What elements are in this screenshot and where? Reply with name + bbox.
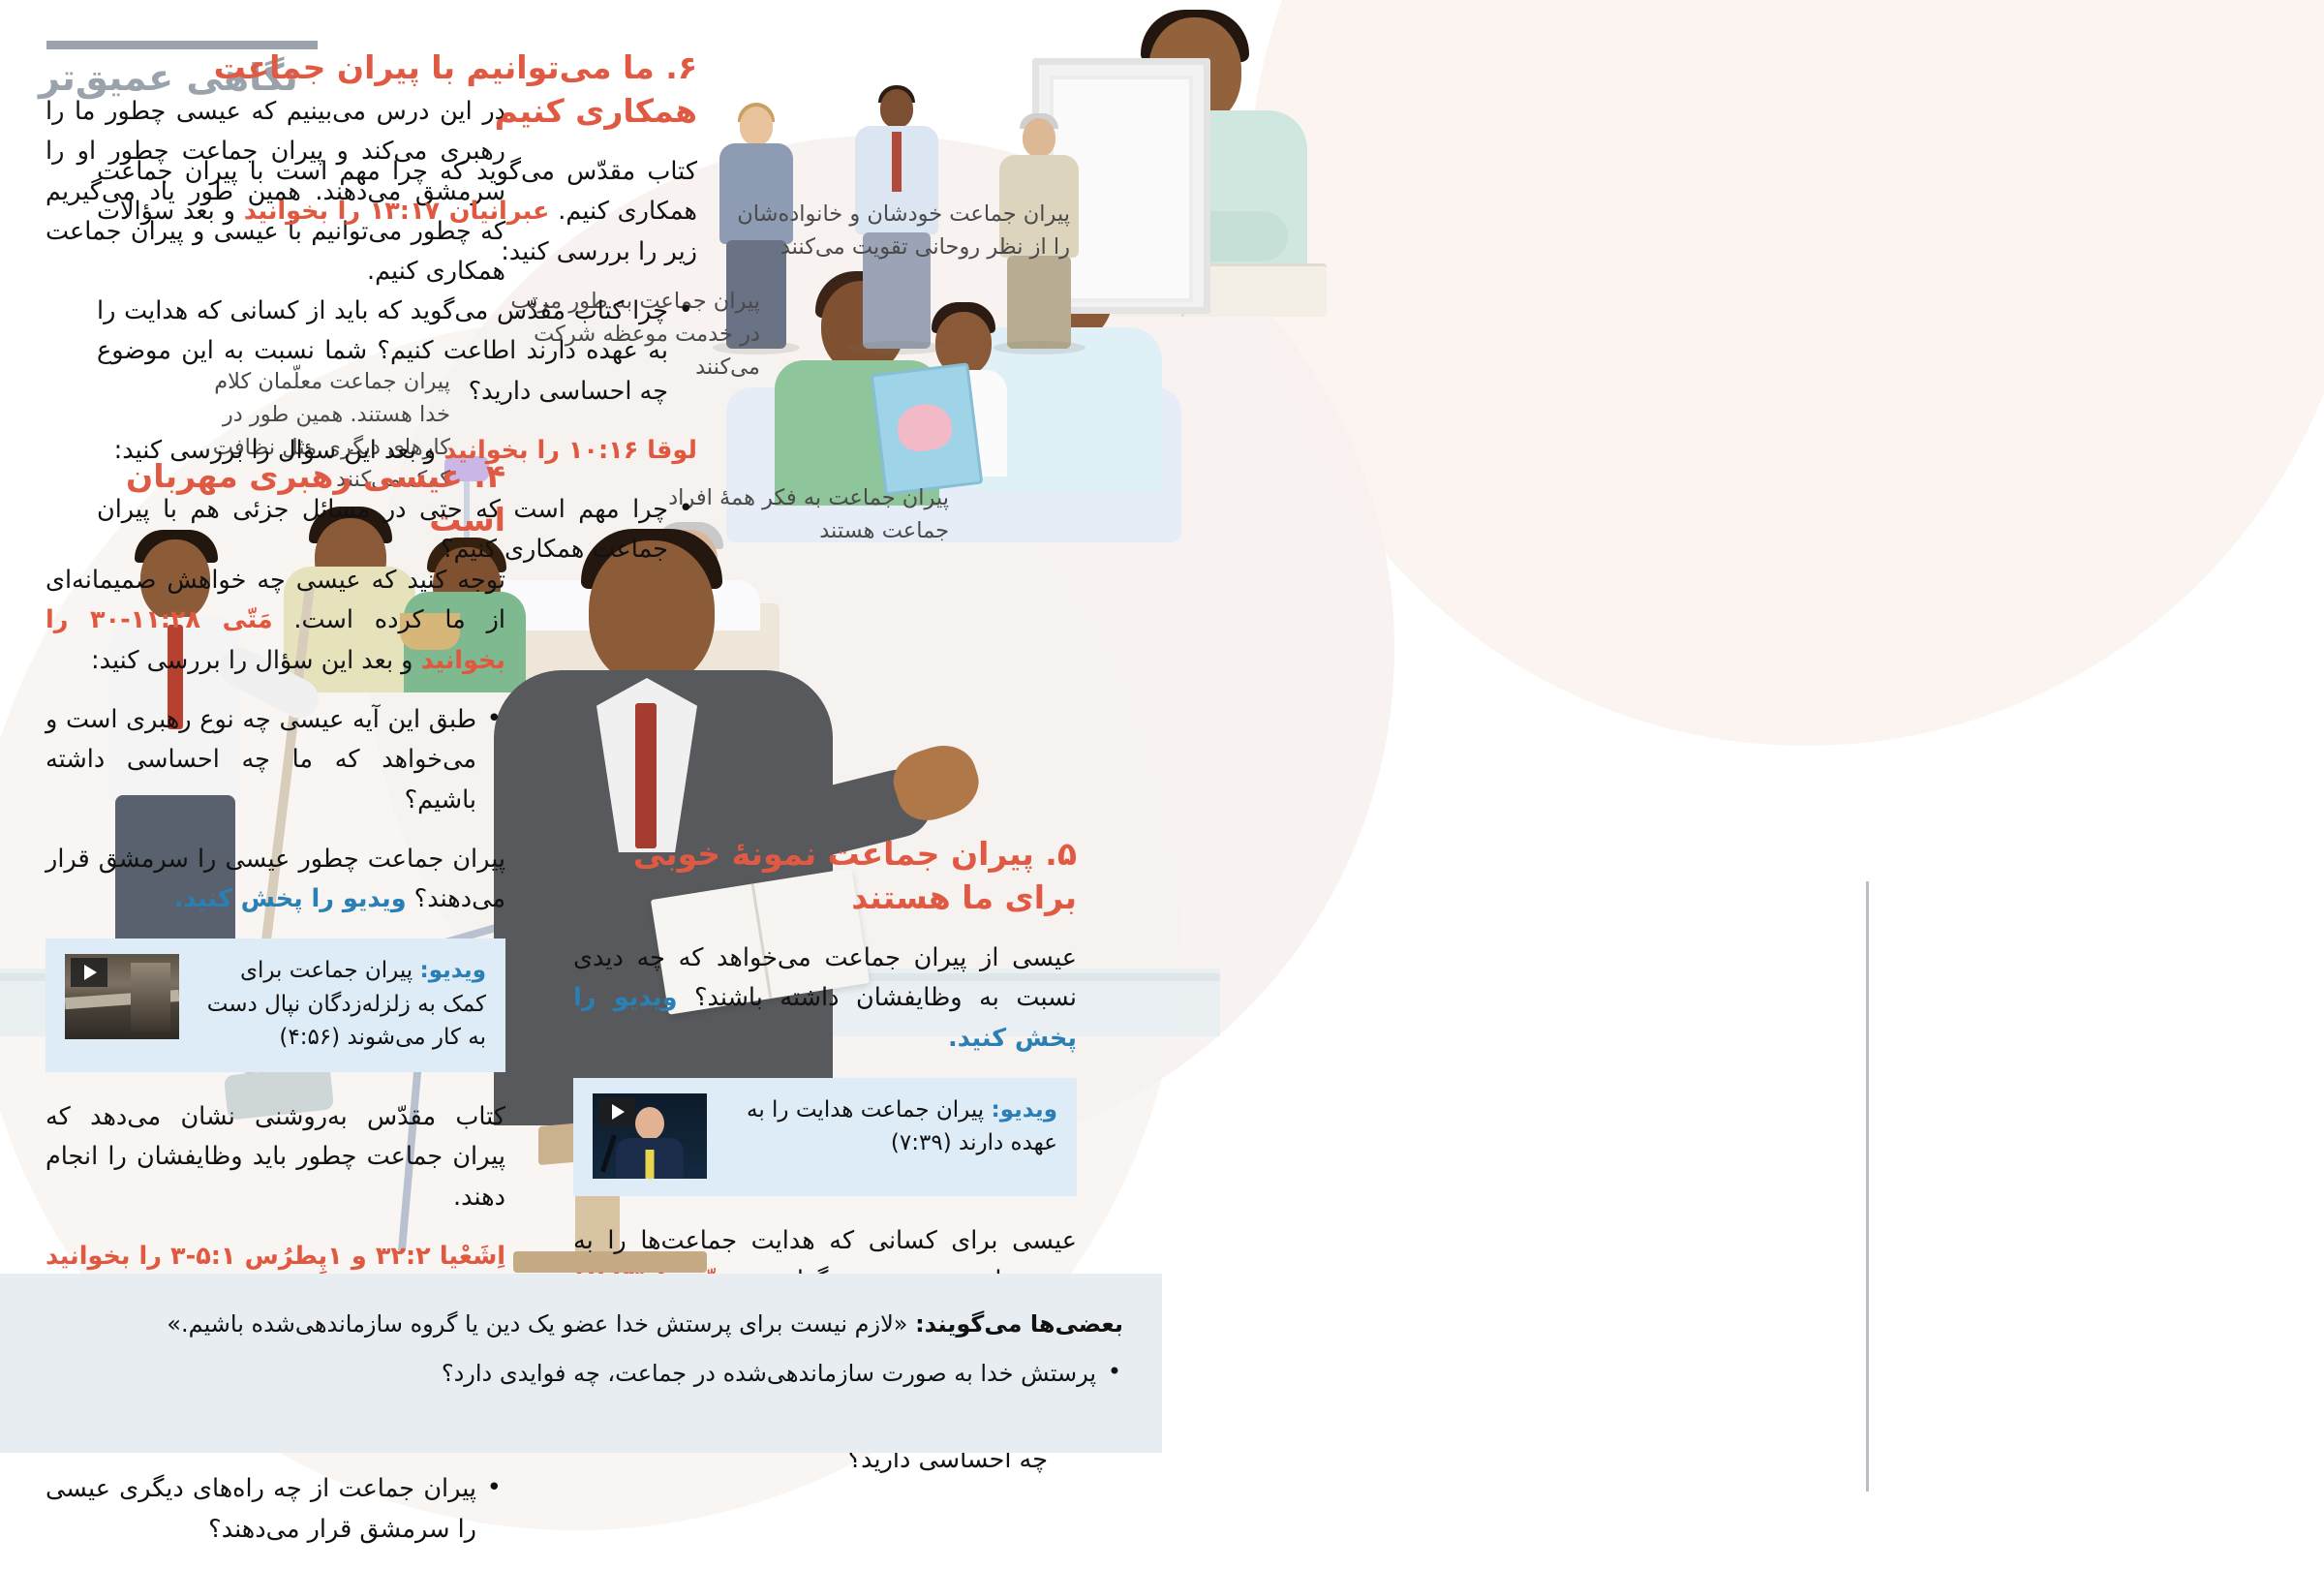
scripture-ref-isaiah-peter[interactable]: اِشَعْیا ۳۲:۲ و ۱پِطرُس ۵:۱-۳ را بخوانید (46, 1242, 505, 1271)
play-video-link-4[interactable]: ویدیو را پخش کنید. (174, 884, 407, 913)
list-item: چرا کتاب مقدّس می‌گوید که باید از کسانی … (97, 292, 697, 412)
section-4-questions-1: طبق این آیه عیسی چه نوع رهبری است و می‌خ… (46, 700, 505, 820)
section-5-paragraph-1: عیسی از پیران جماعت می‌خواهد که چه دیدی … (573, 938, 1077, 1059)
video-box-elders-lead[interactable]: ویدیو: پیران جماعت هدایت را به عهده دارن… (573, 1078, 1077, 1196)
s6-p2-post: و بعد این سؤال را بررسی کنید: (114, 436, 444, 465)
section-6: ۶. ما می‌توانیم با پیران جماعت همکاری کن… (97, 46, 697, 590)
caption-elder-study: پیران جماعت خودشان و خانواده‌شان را از ن… (721, 199, 1070, 264)
play-icon[interactable] (598, 1097, 635, 1126)
publication-page: نگاهی عمیق‌تر (0, 0, 2324, 1494)
section-4-paragraph-3: کتاب مقدّس به‌روشنی نشان می‌دهد که پیران… (46, 1097, 505, 1217)
some-say-quote: «لازم نیست برای پرستش خدا عضو یک دین یا … (167, 1310, 915, 1338)
some-say-box: بعضی‌ها می‌گویند: «لازم نیست برای پرستش … (0, 1274, 1162, 1453)
some-say-label: بعضی‌ها می‌گویند: (915, 1310, 1123, 1338)
list-item: پرستش خدا به صورت سازماندهی‌شده در جماعت… (58, 1356, 1123, 1392)
video-duration: (۴:۵۶) (279, 1025, 340, 1050)
s4-p1-post: و بعد این سؤال را بررسی کنید: (91, 646, 421, 675)
video-label: ویدیو: (420, 958, 486, 983)
column-divider (1866, 881, 1869, 1492)
speaker-podium-thumbnail[interactable] (593, 1093, 707, 1179)
section-6-paragraph-2: لوقا ۱۰:۱۶ را بخوانید و بعد این سؤال را … (97, 431, 697, 471)
list-item: طبق این آیه عیسی چه نوع رهبری است و می‌خ… (46, 700, 505, 820)
section-6-questions-1: چرا کتاب مقدّس می‌گوید که باید از کسانی … (97, 292, 697, 412)
video-box-nepal[interactable]: ویدیو: پیران جماعت برای کمک به زلزله‌زدگ… (46, 938, 505, 1072)
video-label: ویدیو: (992, 1097, 1057, 1123)
video-caption-nepal: ویدیو: پیران جماعت برای کمک به زلزله‌زدگ… (195, 954, 486, 1055)
section-6-heading: ۶. ما می‌توانیم با پیران جماعت همکاری کن… (97, 46, 697, 133)
section-6-paragraph-1: کتاب مقدّس می‌گوید که چرا مهم است با پیر… (97, 152, 697, 272)
some-say-questions: پرستش خدا به صورت سازماندهی‌شده در جماعت… (58, 1356, 1123, 1392)
scripture-ref-hebrews-13[interactable]: عبرانیان ۱۳:۱۷ را بخوانید (244, 197, 550, 226)
nepal-rubble-thumbnail[interactable] (65, 954, 179, 1039)
scripture-ref-luke-10[interactable]: لوقا ۱۰:۱۶ را بخوانید (443, 436, 697, 465)
video-duration: (۷:۳۹) (891, 1130, 952, 1155)
play-icon[interactable] (71, 958, 107, 987)
video-caption-elders-lead: ویدیو: پیران جماعت هدایت را به عهده دارن… (722, 1093, 1057, 1160)
section-6-questions-2: چرا مهم است که حتی در مسائل جزئی هم با پ… (97, 490, 697, 570)
background-blob-top-right (1249, 0, 2324, 746)
section-4-paragraph-2: پیران جماعت چطور عیسی را سرمشق قرار می‌د… (46, 840, 505, 920)
list-item: چرا مهم است که حتی در مسائل جزئی هم با پ… (97, 490, 697, 570)
some-say-lead: بعضی‌ها می‌گویند: «لازم نیست برای پرستش … (58, 1307, 1123, 1342)
list-item: پیران جماعت از چه راه‌های دیگری عیسی را … (46, 1469, 505, 1550)
section-5-heading: ۵. پیران جماعت نمونهٔ خوبی برای ما هستند (573, 833, 1077, 919)
